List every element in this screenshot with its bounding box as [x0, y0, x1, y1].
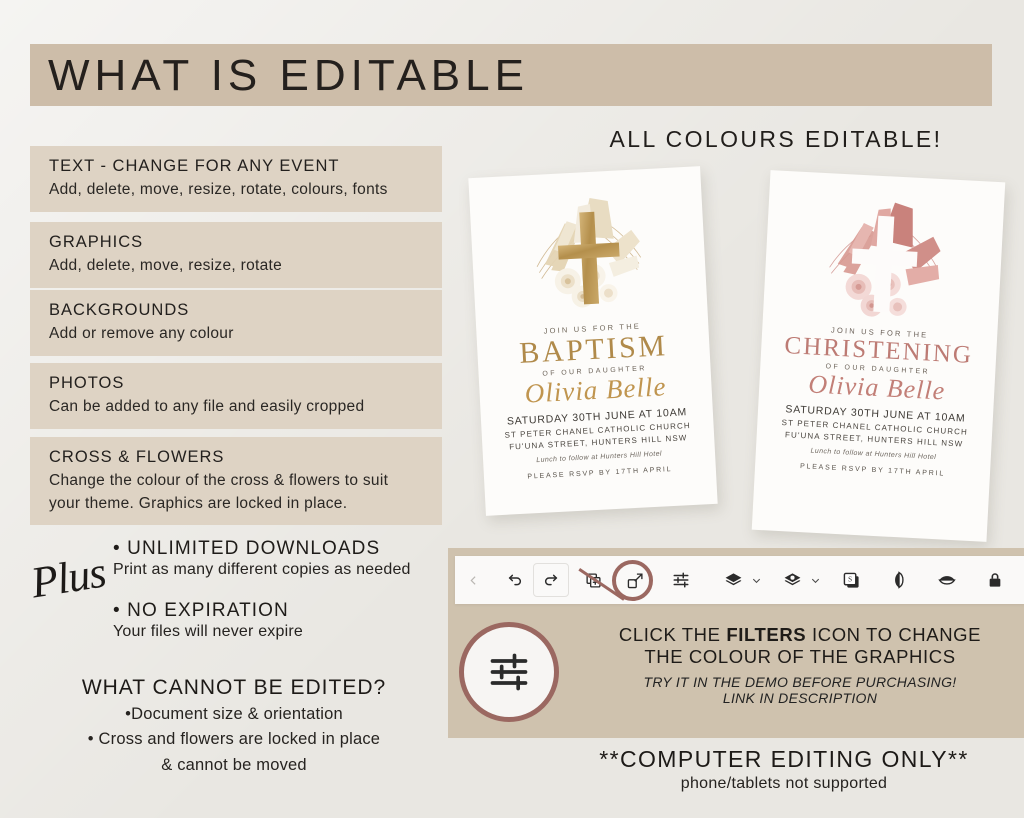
flip-vertical-icon[interactable]: [929, 563, 965, 597]
invitation-card-baptism: JOIN US FOR THE BAPTISM OF OUR DAUGHTER …: [468, 166, 717, 516]
feature-sub: Change the colour of the cross & flowers…: [49, 470, 442, 492]
feature-title: TEXT - CHANGE FOR ANY EVENT: [49, 155, 442, 177]
plus-item-head: • UNLIMITED DOWNLOADS: [113, 538, 411, 560]
card-rsvp: PLEASE RSVP BY 17TH APRIL: [755, 461, 990, 480]
filters-icon[interactable]: [663, 563, 699, 597]
filters-callout-text: CLICK THE FILTERS ICON TO CHANGE THE COL…: [580, 624, 1020, 706]
feature-title: GRAPHICS: [49, 231, 442, 253]
back-chevron-icon[interactable]: [455, 563, 491, 597]
lock-icon[interactable]: [977, 563, 1013, 597]
callout-line1-b: FILTERS: [726, 624, 806, 645]
callout-line-3: LINK IN DESCRIPTION: [580, 690, 1020, 706]
feature-title: PHOTOS: [49, 372, 442, 394]
callout-line-2: TRY IT IN THE DEMO BEFORE PURCHASING!: [580, 674, 1020, 690]
chevron-down-icon[interactable]: [751, 563, 762, 597]
feature-bar-backgrounds: BACKGROUNDS Add or remove any colour: [30, 290, 442, 356]
callout-line1-a: CLICK THE: [619, 624, 726, 645]
plus-item-unlimited-downloads: • UNLIMITED DOWNLOADS Print as many diff…: [113, 538, 411, 579]
footer-line-1: **COMPUTER EDITING ONLY**: [556, 746, 1012, 773]
callout-line1-c: ICON TO CHANGE: [806, 624, 981, 645]
feature-bar-graphics: GRAPHICS Add, delete, move, resize, rota…: [30, 222, 442, 288]
feature-sub: Add or remove any colour: [49, 323, 442, 345]
feature-title: BACKGROUNDS: [49, 299, 442, 321]
cross-flowers-artwork-gold: [469, 172, 708, 330]
card-rsvp: PLEASE RSVP BY 17TH APRIL: [484, 464, 716, 483]
footer-block: **COMPUTER EDITING ONLY** phone/tablets …: [556, 746, 1012, 793]
redo-icon[interactable]: [533, 563, 569, 597]
plus-item-sub: Print as many different copies as needed: [113, 561, 411, 579]
invitation-card-christening: JOIN US FOR THE CHRISTENING OF OUR DAUGH…: [752, 170, 1006, 542]
feature-sub: Add, delete, move, resize, rotate, colou…: [49, 179, 442, 201]
feature-bar-cross-flowers: CROSS & FLOWERS Change the colour of the…: [30, 437, 442, 525]
plus-item-sub: Your files will never expire: [113, 623, 303, 641]
flip-horizontal-icon[interactable]: [881, 563, 917, 597]
cannot-line-2: • Cross and flowers are locked in place: [22, 728, 446, 750]
editor-toolbar[interactable]: S: [455, 556, 1024, 604]
shadow-icon[interactable]: S: [833, 563, 869, 597]
plus-script-label: Plus: [27, 547, 108, 609]
chevron-down-icon[interactable]: [810, 563, 821, 597]
callout-line-1: CLICK THE FILTERS ICON TO CHANGE: [580, 624, 1020, 646]
feature-bar-text: TEXT - CHANGE FOR ANY EVENT Add, delete,…: [30, 146, 442, 212]
cannot-line-3: & cannot be moved: [22, 754, 446, 776]
svg-text:S: S: [848, 575, 852, 583]
layers-front-icon[interactable]: [715, 563, 751, 597]
feature-sub-2: your theme. Graphics are locked in place…: [49, 493, 442, 515]
feature-sub: Can be added to any file and easily crop…: [49, 396, 442, 418]
cannot-be-edited-block: WHAT CANNOT BE EDITED? •Document size & …: [22, 676, 446, 776]
feature-bar-photos: PHOTOS Can be added to any file and easi…: [30, 363, 442, 429]
cannot-heading: WHAT CANNOT BE EDITED?: [22, 676, 446, 700]
callout-line-1d: THE COLOUR OF THE GRAPHICS: [580, 646, 1020, 668]
page-title: WHAT IS EDITABLE: [48, 48, 748, 104]
footer-line-2: phone/tablets not supported: [556, 775, 1012, 793]
layers-back-icon[interactable]: [774, 563, 810, 597]
feature-sub: Add, delete, move, resize, rotate: [49, 255, 442, 277]
plus-item-head: • NO EXPIRATION: [113, 600, 303, 622]
poster-canvas: WHAT IS EDITABLE TEXT - CHANGE FOR ANY E…: [0, 0, 1024, 818]
all-colours-editable-heading: ALL COLOURS EDITABLE!: [566, 126, 986, 153]
plus-item-no-expiration: • NO EXPIRATION Your files will never ex…: [113, 600, 303, 641]
cannot-line-1: •Document size & orientation: [22, 703, 446, 725]
cross-flowers-artwork-pink: [763, 176, 1005, 334]
feature-title: CROSS & FLOWERS: [49, 446, 442, 468]
filters-icon-magnified: [459, 622, 559, 722]
undo-icon[interactable]: [497, 563, 533, 597]
filters-icon: [487, 650, 531, 694]
